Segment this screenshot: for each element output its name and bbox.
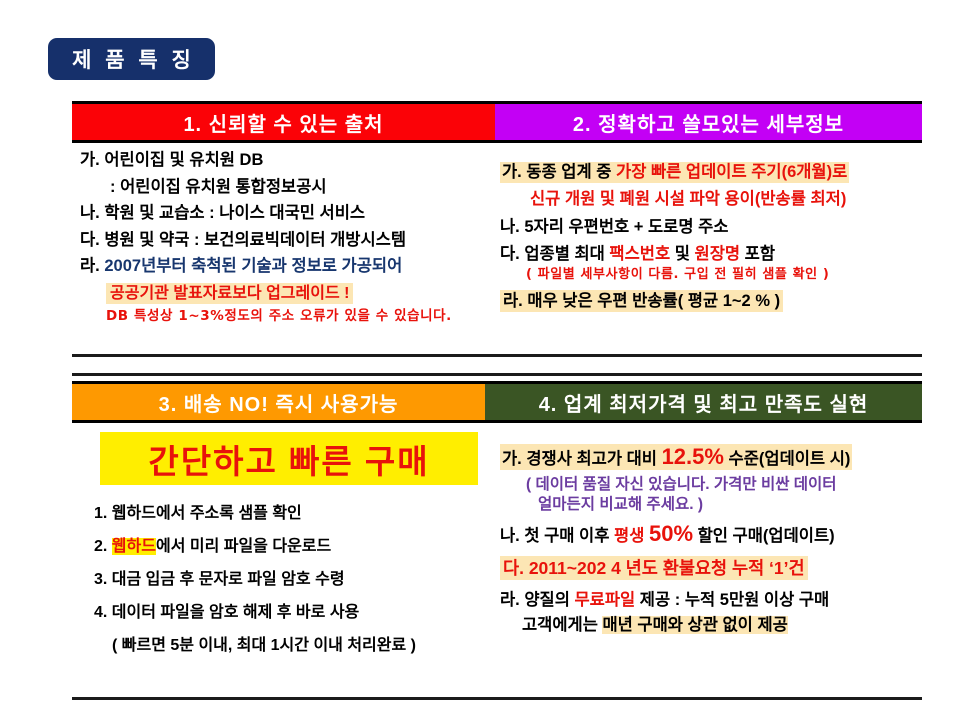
- line-1d-prefix: 라.: [80, 257, 104, 275]
- line-4e: 고객에게는 매년 구매와 상관 없이 제공: [500, 617, 930, 634]
- line-4d-mid: 제공 : 누적 5만원 이상 구매: [635, 591, 829, 609]
- section-2-content: 가. 동종 업계 중 가장 빠른 업데이트 주기(6개월)로 신규 개원 및 폐…: [500, 162, 925, 320]
- line-1d-navy: 2007년부터 축척된 기술과 정보로 가공되어: [104, 257, 402, 275]
- line-1f-handwriting: DB 특성상 1~3%정도의 주소 오류가 있을 수 있습니다.: [80, 310, 490, 324]
- line-2e-highlight: 라. 매우 낮은 우편 반송률( 평균 1~2 % ): [500, 290, 783, 312]
- line-4b-prefix: 나. 첫 구매 이후: [500, 527, 614, 545]
- line-4b-red: 평생: [614, 527, 649, 545]
- line-2c-prefix: 다. 업종별 최대: [500, 245, 609, 263]
- page-title-badge: 제 품 특 징: [48, 38, 215, 80]
- line-4a-note-1: ( 데이터 품질 자신 있습니다. 가격만 비싼 데이터: [500, 477, 930, 493]
- divider-rule-bottom: [72, 697, 922, 700]
- section-3-header: 3. 배송 NO! 즉시 사용가능: [72, 384, 485, 420]
- section-2-header: 2. 정확하고 쓸모있는 세부정보: [495, 104, 922, 140]
- line-4a: 가. 경쟁사 최고가 대비 12.5% 수준(업데이트 시): [500, 444, 852, 470]
- line-4b-suffix: 할인 구매(업데이트): [693, 527, 835, 545]
- section-3-content: 1. 웹하드에서 주소록 샘플 확인 2. 웹하드에서 미리 파일을 다운로드 …: [80, 428, 490, 671]
- line-2a-red: 가장 빠른 업데이트 주기(6개월)로: [616, 163, 847, 181]
- line-4d-prefix: 라. 양질의: [500, 591, 574, 609]
- section-header-row-1: 1. 신뢰할 수 있는 출처 2. 정확하고 쓸모있는 세부정보: [72, 101, 922, 143]
- line-2a: 가. 동종 업계 중 가장 빠른 업데이트 주기(6개월)로: [500, 162, 849, 183]
- line-1b: 나. 학원 및 교습소 : 나이스 대국민 서비스: [80, 205, 490, 222]
- step-item-2-prefix: 2.: [94, 538, 112, 555]
- step-item-4: 4. 데이터 파일을 암호 해제 후 바로 사용: [80, 605, 490, 621]
- step-item-3: 3. 대금 입금 후 문자로 파일 암호 수령: [80, 572, 490, 588]
- line-4c-refund-stat: 다. 2011~202 4 년도 환불요청 누적 ‘1’건: [500, 556, 808, 580]
- line-2c-red-fax: 팩스번호: [609, 245, 670, 263]
- line-2c-suffix: 포함: [740, 245, 775, 263]
- line-2b: 나. 5자리 우편번호 + 도로명 주소: [500, 219, 925, 236]
- line-4a-suffix: 수준(업데이트 시): [724, 450, 850, 468]
- line-4b-discount-percent: 50%: [649, 521, 693, 546]
- line-2c-red-director: 원장명: [695, 245, 741, 263]
- line-2d-handwriting: ( 파일별 세부사항이 다름. 구입 전 필히 샘플 확인 ): [500, 268, 925, 281]
- line-4a-plain: 경쟁사 최고가 대비: [526, 450, 661, 468]
- step-item-5-note: ( 빠르면 5분 이내, 최대 1시간 이내 처리완료 ): [80, 638, 490, 654]
- section-1-header: 1. 신뢰할 수 있는 출처: [72, 104, 495, 140]
- line-4a-prefix: 가.: [502, 450, 526, 468]
- step-item-2: 2. 웹하드에서 미리 파일을 다운로드: [80, 539, 490, 555]
- line-2e: 라. 매우 낮은 우편 반송률( 평균 1~2 % ): [500, 293, 925, 310]
- line-4e-highlight: 매년 구매와 상관 없이 제공: [602, 616, 787, 634]
- step-item-2-red: 웹하드: [112, 538, 156, 555]
- line-1a: 가. 어린이집 및 유치원 DB: [80, 152, 490, 169]
- section-4-content: 가. 경쟁사 최고가 대비 12.5% 수준(업데이트 시) ( 데이터 품질 …: [500, 444, 930, 644]
- line-4a-price-percent: 12.5%: [662, 444, 724, 469]
- line-4d: 라. 양질의 무료파일 제공 : 누적 5만원 이상 구매: [500, 592, 930, 609]
- line-2a-sub: 신규 개원 및 폐원 시설 파악 용이(반송률 최저): [500, 191, 925, 208]
- line-4b: 나. 첫 구매 이후 평생 50% 할인 구매(업데이트): [500, 523, 930, 545]
- line-1e-highlight: 공공기관 발표자료보다 업그레이드 !: [106, 283, 353, 304]
- line-2c: 다. 업종별 최대 팩스번호 및 원장명 포함: [500, 246, 925, 263]
- line-2c-mid: 및: [670, 245, 694, 263]
- line-1c: 다. 병원 및 약국 : 보건의료빅데이터 개방시스템: [80, 232, 490, 249]
- line-1d: 라. 2007년부터 축척된 기술과 정보로 가공되어: [80, 258, 490, 275]
- purchase-steps-list: 1. 웹하드에서 주소록 샘플 확인 2. 웹하드에서 미리 파일을 다운로드 …: [80, 506, 490, 654]
- divider-rule-upper: [72, 354, 922, 357]
- line-1a-sub: : 어린이집 유치원 통합정보공시: [80, 179, 490, 196]
- line-1e: 공공기관 발표자료보다 업그레이드 !: [80, 285, 490, 302]
- divider-rule-lower: [72, 373, 922, 376]
- line-2a-prefix: 가.: [502, 163, 526, 181]
- line-4e-prefix: 고객에게는: [522, 616, 602, 634]
- section-4-header: 4. 업계 최저가격 및 최고 만족도 실현: [485, 384, 922, 420]
- step-item-2-suffix: 에서 미리 파일을 다운로드: [156, 538, 331, 555]
- line-4d-red-freefile: 무료파일: [574, 591, 635, 609]
- section-1-content: 가. 어린이집 및 유치원 DB : 어린이집 유치원 통합정보공시 나. 학원…: [80, 152, 490, 333]
- line-4c: 다. 2011~202 4 년도 환불요청 누적 ‘1’건: [500, 560, 930, 578]
- step-item-1: 1. 웹하드에서 주소록 샘플 확인: [80, 506, 490, 522]
- line-2a-plain: 동종 업계 중: [526, 163, 616, 181]
- line-4a-note-2: 얼마든지 비교해 주세요. ): [500, 497, 930, 513]
- section-header-row-2: 3. 배송 NO! 즉시 사용가능 4. 업계 최저가격 및 최고 만족도 실현: [72, 381, 922, 423]
